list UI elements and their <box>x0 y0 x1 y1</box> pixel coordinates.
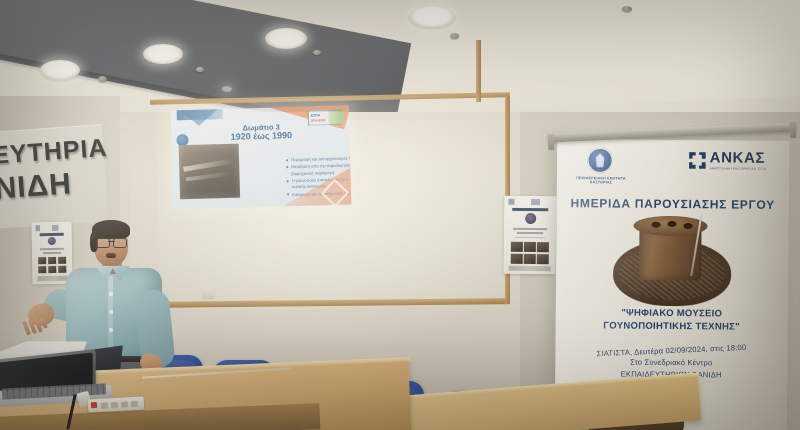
espa-logo: ΕΣΠΑ 2014-2020 <box>308 110 344 126</box>
smoke-detector-2 <box>196 67 204 72</box>
wall-sign-line-1: ΕΥΤΗΡΙΑ <box>0 136 99 168</box>
power-strip-socket[interactable] <box>111 402 118 408</box>
ceiling-light-2 <box>143 44 183 64</box>
shirt-button <box>109 310 113 314</box>
wall-sign-letters: ΕΥΤΗΡΙΑ ΝΙΔΗ <box>0 136 103 219</box>
ceiling-light-5 <box>222 86 232 92</box>
power-strip-socket[interactable] <box>121 401 128 407</box>
conference-room-photo: ΕΥΤΗΡΙΑ ΝΙΔΗ ΕΣΠΑ 2014-2020 Δωμάτιο 3 19… <box>0 0 800 430</box>
poster-right <box>504 196 557 275</box>
slide-title-line-2: 1920 έως 1990 <box>209 130 313 142</box>
slide-title: Δωμάτιο 3 1920 έως 1990 <box>209 123 313 143</box>
espa-logo-line-1: ΕΣΠΑ <box>311 113 320 117</box>
banner-rail-cap-left <box>548 134 555 150</box>
projected-slide: ΕΣΠΑ 2014-2020 Δωμάτιο 3 1920 έως 1990 Π… <box>171 106 352 210</box>
wood-trim-corner <box>476 40 481 102</box>
wall-sign-line-2: ΝΙΔΗ <box>0 167 101 204</box>
shirt-button <box>109 292 113 296</box>
mouth <box>106 253 116 258</box>
smoke-detector-4 <box>450 33 459 39</box>
ceiling-light-3 <box>265 28 307 49</box>
power-strip-socket[interactable] <box>131 401 138 407</box>
shirt-button <box>109 328 113 332</box>
ceiling-light-1 <box>40 60 80 80</box>
espa-logo-line-2: 2014-2020 <box>311 118 325 122</box>
glasses-icon <box>96 238 127 246</box>
smoke-detector-1 <box>98 76 107 82</box>
smoke-detector-5 <box>622 6 632 12</box>
smoke-detector-3 <box>313 50 321 55</box>
slide-photo <box>179 144 240 200</box>
power-strip-socket[interactable] <box>101 402 108 408</box>
banner-rail-cap-right <box>790 122 797 138</box>
power-strip-switch[interactable] <box>91 402 97 408</box>
ceiling-light-4 <box>409 6 455 28</box>
